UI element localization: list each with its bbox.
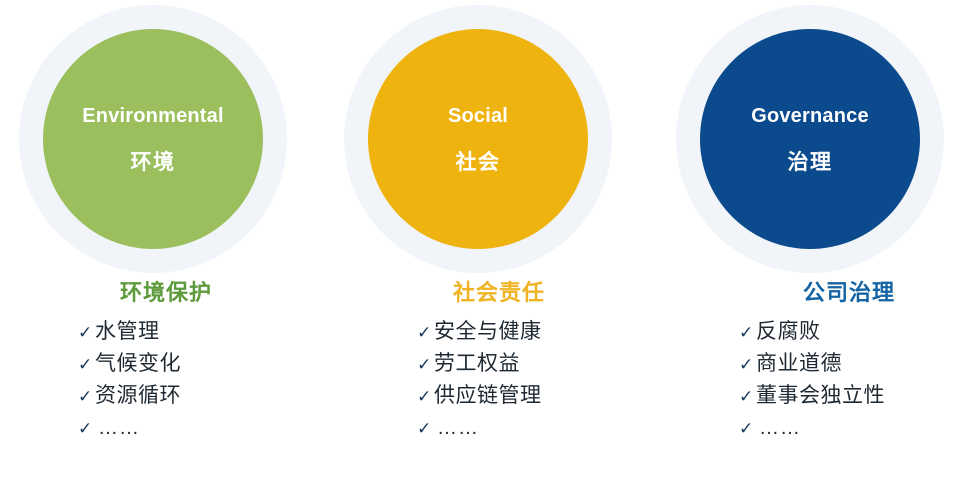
list-item-label: …… <box>756 412 801 444</box>
pillar-environmental: Environmental 环境 环境保护 ✓ 水管理 ✓ 气候变化 ✓ 资源循… <box>0 0 320 481</box>
list-item-label: 水管理 <box>95 316 160 348</box>
list-item: ✓ 安全与健康 <box>417 316 542 348</box>
heading-governance: 公司治理 <box>657 281 961 305</box>
list-item: ✓ …… <box>739 412 885 444</box>
check-icon: ✓ <box>78 317 95 349</box>
list-item-label: 供应链管理 <box>434 380 542 412</box>
list-item-label: …… <box>434 412 479 444</box>
circle-title-en-governance: Governance <box>751 106 869 126</box>
check-icon: ✓ <box>417 381 434 413</box>
list-item-label: 安全与健康 <box>434 316 542 348</box>
list-item: ✓ 董事会独立性 <box>739 380 885 412</box>
check-icon: ✓ <box>417 317 434 349</box>
checklist-social: ✓ 安全与健康 ✓ 劳工权益 ✓ 供应链管理 ✓ …… <box>417 316 542 444</box>
checklist-governance: ✓ 反腐败 ✓ 商业道德 ✓ 董事会独立性 ✓ …… <box>739 316 885 444</box>
list-item-label: …… <box>95 412 140 444</box>
check-icon: ✓ <box>417 349 434 381</box>
check-icon: ✓ <box>417 413 434 445</box>
heading-social: 社会责任 <box>325 281 659 305</box>
check-icon: ✓ <box>78 413 95 445</box>
pillar-governance: Governance 治理 公司治理 ✓ 反腐败 ✓ 商业道德 ✓ 董事会独立性… <box>657 0 961 481</box>
check-icon: ✓ <box>739 317 756 349</box>
list-item-label: 劳工权益 <box>434 348 520 380</box>
circle-title-en-social: Social <box>448 106 508 126</box>
pillar-social: Social 社会 社会责任 ✓ 安全与健康 ✓ 劳工权益 ✓ 供应链管理 ✓ … <box>325 0 645 481</box>
list-item: ✓ 反腐败 <box>739 316 885 348</box>
check-icon: ✓ <box>78 381 95 413</box>
checklist-environmental: ✓ 水管理 ✓ 气候变化 ✓ 资源循环 ✓ …… <box>78 316 181 444</box>
circle-title-zh-social: 社会 <box>456 152 501 173</box>
list-item: ✓ 资源循环 <box>78 380 181 412</box>
list-item-label: 反腐败 <box>756 316 821 348</box>
list-item-label: 商业道德 <box>756 348 842 380</box>
list-item: ✓ …… <box>78 412 181 444</box>
heading-environmental: 环境保护 <box>0 281 326 305</box>
list-item: ✓ …… <box>417 412 542 444</box>
list-item: ✓ 供应链管理 <box>417 380 542 412</box>
list-item-label: 资源循环 <box>95 380 181 412</box>
check-icon: ✓ <box>739 349 756 381</box>
circle-governance[interactable]: Governance 治理 <box>700 29 920 249</box>
list-item-label: 气候变化 <box>95 348 181 380</box>
list-item: ✓ 劳工权益 <box>417 348 542 380</box>
list-item: ✓ 水管理 <box>78 316 181 348</box>
esg-pillars-diagram: Environmental 环境 环境保护 ✓ 水管理 ✓ 气候变化 ✓ 资源循… <box>0 0 961 481</box>
check-icon: ✓ <box>739 381 756 413</box>
list-item-label: 董事会独立性 <box>756 380 885 412</box>
circle-social[interactable]: Social 社会 <box>368 29 588 249</box>
circle-title-en-environmental: Environmental <box>82 106 224 126</box>
list-item: ✓ 气候变化 <box>78 348 181 380</box>
check-icon: ✓ <box>78 349 95 381</box>
check-icon: ✓ <box>739 413 756 445</box>
list-item: ✓ 商业道德 <box>739 348 885 380</box>
circle-environmental[interactable]: Environmental 环境 <box>43 29 263 249</box>
circle-title-zh-environmental: 环境 <box>131 152 176 173</box>
circle-title-zh-governance: 治理 <box>788 152 833 173</box>
